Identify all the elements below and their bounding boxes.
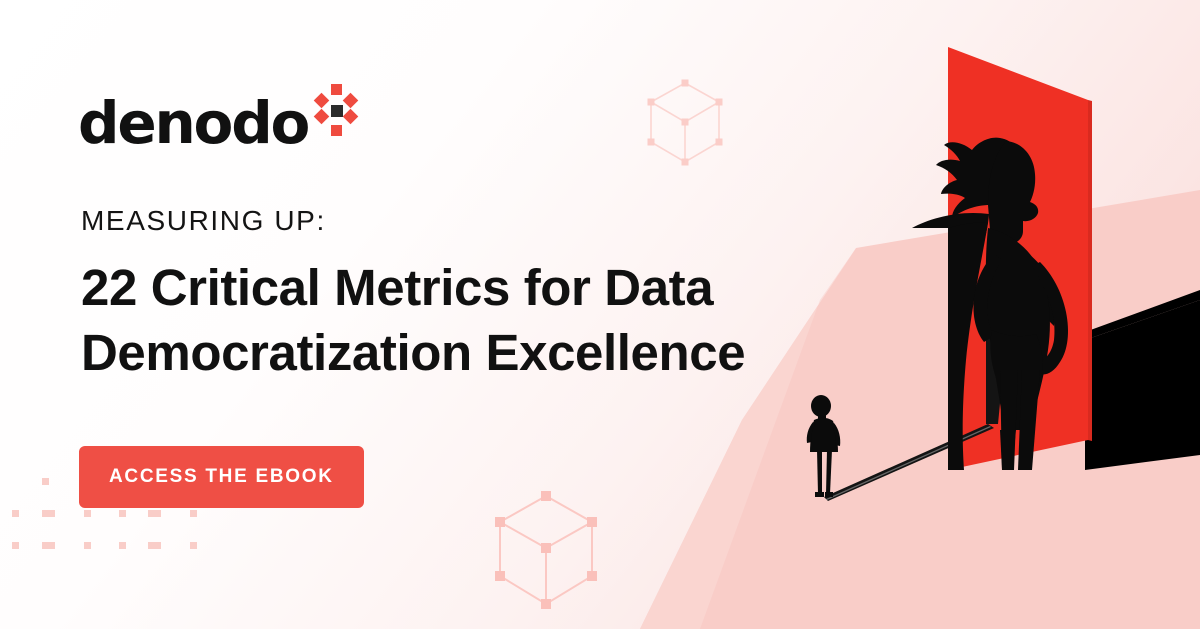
grid-dot xyxy=(48,542,55,549)
red-wall-panel xyxy=(948,47,1088,470)
headline-line-2: Democratization Excellence xyxy=(81,320,841,385)
logo-dot-bottom-left xyxy=(314,109,330,125)
headline-line-1: 22 Critical Metrics for Data xyxy=(81,255,841,320)
grid-dot xyxy=(12,510,19,517)
grid-dot xyxy=(48,510,55,517)
grid-dot xyxy=(119,510,126,517)
cast-shadow-line-highlight xyxy=(826,426,991,500)
grid-dot xyxy=(84,510,91,517)
banner-ad: denodo MEASURING UP: 22 Critical Metrics… xyxy=(0,0,1200,629)
page-title: 22 Critical Metrics for Data Democratiza… xyxy=(81,255,841,386)
logo-dot-top-left xyxy=(314,93,330,109)
grid-dot xyxy=(190,542,197,549)
grid-dot xyxy=(42,478,49,485)
logo-dot-center xyxy=(331,105,343,117)
logo-dot-top-right xyxy=(343,93,359,109)
denodo-dot-mark xyxy=(312,84,362,138)
logo-dot-bottom-right xyxy=(343,109,359,125)
grid-dot xyxy=(154,542,161,549)
cast-shadow-line xyxy=(824,424,994,501)
cast-shadow-wall-far xyxy=(1085,290,1200,340)
logo-dot-bottom xyxy=(331,125,342,136)
eyebrow-text: MEASURING UP: xyxy=(81,207,326,235)
grid-dot xyxy=(154,510,161,517)
access-the-ebook-button[interactable]: ACCESS THE EBOOK xyxy=(79,446,364,508)
wireframe-cube-small xyxy=(646,78,724,168)
person-silhouette xyxy=(807,395,841,497)
wireframe-cube-large xyxy=(494,490,598,612)
logo-wordmark: denodo xyxy=(78,94,308,152)
grid-dot xyxy=(119,542,126,549)
grid-dot xyxy=(84,542,91,549)
superhero-silhouette xyxy=(912,138,1068,470)
grid-dot xyxy=(12,542,19,549)
dot-grid-pattern-rows xyxy=(0,510,204,570)
grid-dot xyxy=(190,510,197,517)
logo-dot-top xyxy=(331,84,342,95)
denodo-logo[interactable]: denodo xyxy=(78,80,362,152)
cast-shadow-wall xyxy=(1085,300,1200,470)
red-wall-panel-edge xyxy=(1088,100,1092,441)
cast-shadow-vertical xyxy=(986,300,1010,424)
